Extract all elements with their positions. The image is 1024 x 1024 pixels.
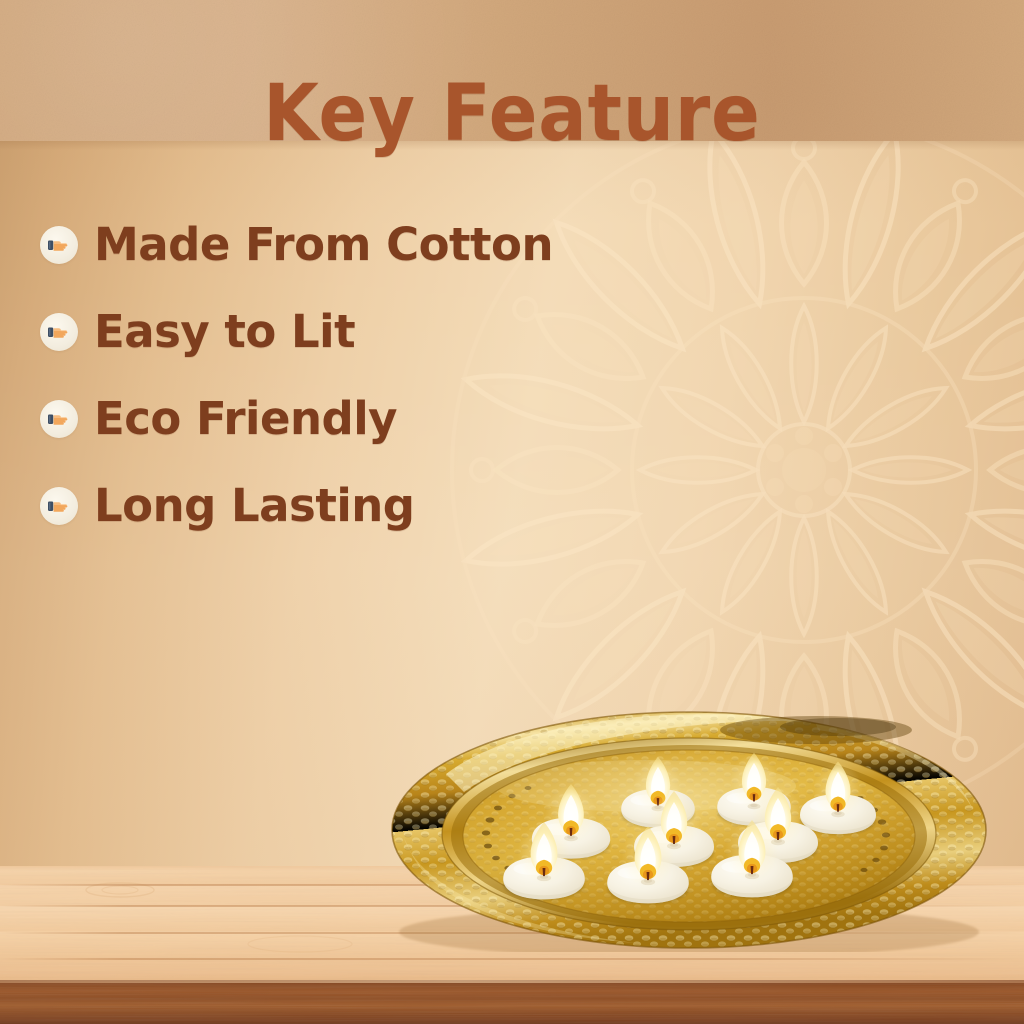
page-title: Key Feature [41, 66, 983, 162]
pointing-right-hand-icon [40, 400, 78, 438]
list-item-label: Made From Cotton [94, 222, 553, 268]
list-item-label: Long Lasting [94, 483, 415, 529]
plank-seam [0, 958, 1024, 960]
pointing-right-hand-icon [40, 226, 78, 264]
list-item: Easy to Lit [40, 309, 760, 355]
product-feature-banner: Key Feature Made From Cotton [0, 0, 1024, 1024]
list-item-label: Eco Friendly [94, 396, 397, 442]
list-item: Made From Cotton [40, 222, 760, 268]
table-edge-grain [0, 980, 1024, 1024]
brass-plate-with-candles [386, 700, 992, 952]
list-item-label: Easy to Lit [94, 309, 355, 355]
table-edge-highlight [0, 980, 1024, 983]
list-item: Long Lasting [40, 483, 760, 529]
feature-list: Made From Cotton Easy to Lit [40, 222, 760, 529]
pointing-right-hand-icon [40, 487, 78, 525]
list-item: Eco Friendly [40, 396, 760, 442]
wooden-table-edge [0, 980, 1024, 1024]
pointing-right-hand-icon [40, 313, 78, 351]
